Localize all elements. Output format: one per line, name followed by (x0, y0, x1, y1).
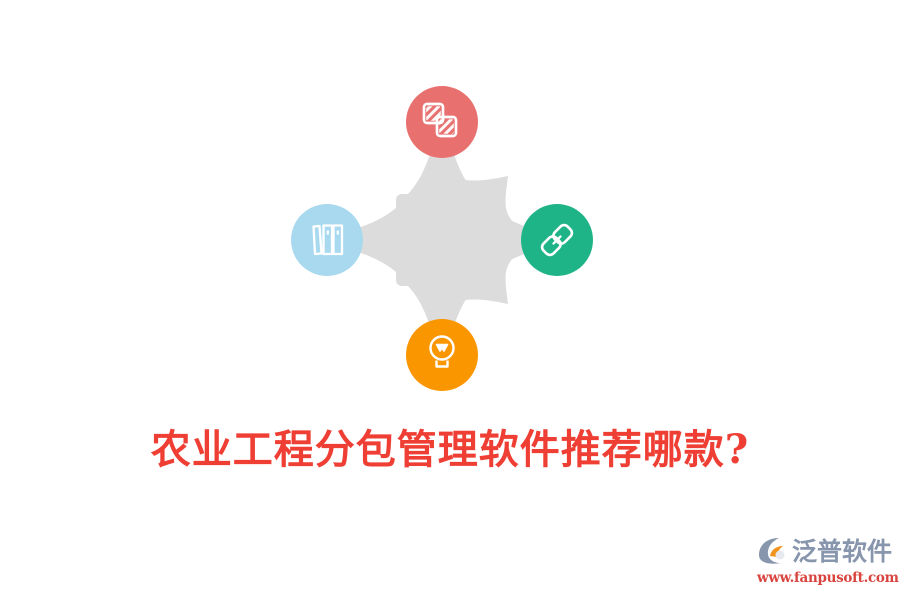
fanpu-swoosh-icon (757, 535, 791, 569)
node-right[interactable] (521, 204, 593, 276)
node-left-circle[interactable] (291, 204, 363, 276)
page-title: 农业工程分包管理软件推荐哪款? (0, 424, 900, 476)
node-bottom[interactable] (406, 319, 478, 391)
node-left[interactable] (291, 204, 363, 276)
brand-name: 泛普软件 (792, 535, 892, 569)
radial-diagram-canvas (0, 0, 900, 420)
radial-diagram (0, 0, 900, 420)
brand-watermark: 泛普软件 www.fanpusoft.com (757, 532, 892, 594)
node-top[interactable] (406, 86, 478, 158)
brand-url: www.fanpusoft.com (757, 570, 892, 586)
node-bottom-circle[interactable] (406, 319, 478, 391)
